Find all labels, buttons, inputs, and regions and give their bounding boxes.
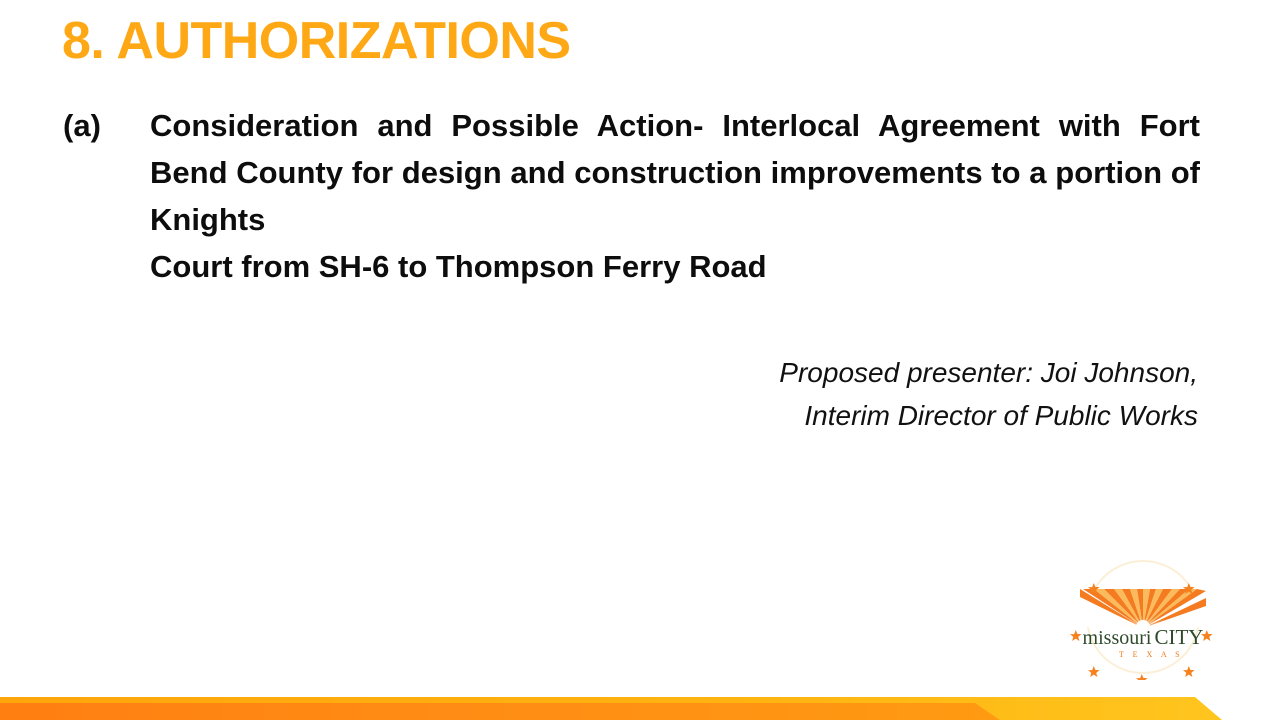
logo-graphic: missouriCITY T E X A S — [1058, 558, 1228, 680]
logo-wordmark-missouri: missouri — [1083, 627, 1152, 649]
footer-band-back-layer — [0, 697, 1222, 720]
footer-band-front-layer — [0, 703, 1000, 720]
presenter-note: Proposed presenter: Joi Johnson, Interim… — [779, 352, 1198, 437]
page-title: 8. AUTHORIZATIONS — [62, 14, 571, 69]
agenda-item-label: (a) — [63, 102, 150, 149]
footer-band-graphic — [0, 680, 1280, 720]
missouri-city-logo: missouriCITY T E X A S — [1058, 558, 1228, 680]
logo-wordmark: missouriCITY — [1083, 625, 1204, 649]
agenda-item-row: (a) Consideration and Possible Action- I… — [63, 102, 1200, 290]
agenda-item-block: (a) Consideration and Possible Action- I… — [63, 102, 1200, 290]
agenda-item-text-main: Consideration and Possible Action- Inter… — [150, 108, 1200, 237]
presentation-slide: 8. AUTHORIZATIONS (a) Consideration and … — [0, 0, 1280, 720]
footer-band — [0, 680, 1280, 720]
logo-state-label: T E X A S — [1119, 650, 1183, 659]
presenter-line-2: Interim Director of Public Works — [779, 395, 1198, 438]
logo-wordmark-city: CITY — [1154, 625, 1203, 649]
agenda-item-text-lastline: Court from SH-6 to Thompson Ferry Road — [150, 243, 1200, 290]
agenda-item-text: Consideration and Possible Action- Inter… — [150, 102, 1200, 290]
presenter-line-1: Proposed presenter: Joi Johnson, — [779, 352, 1198, 395]
